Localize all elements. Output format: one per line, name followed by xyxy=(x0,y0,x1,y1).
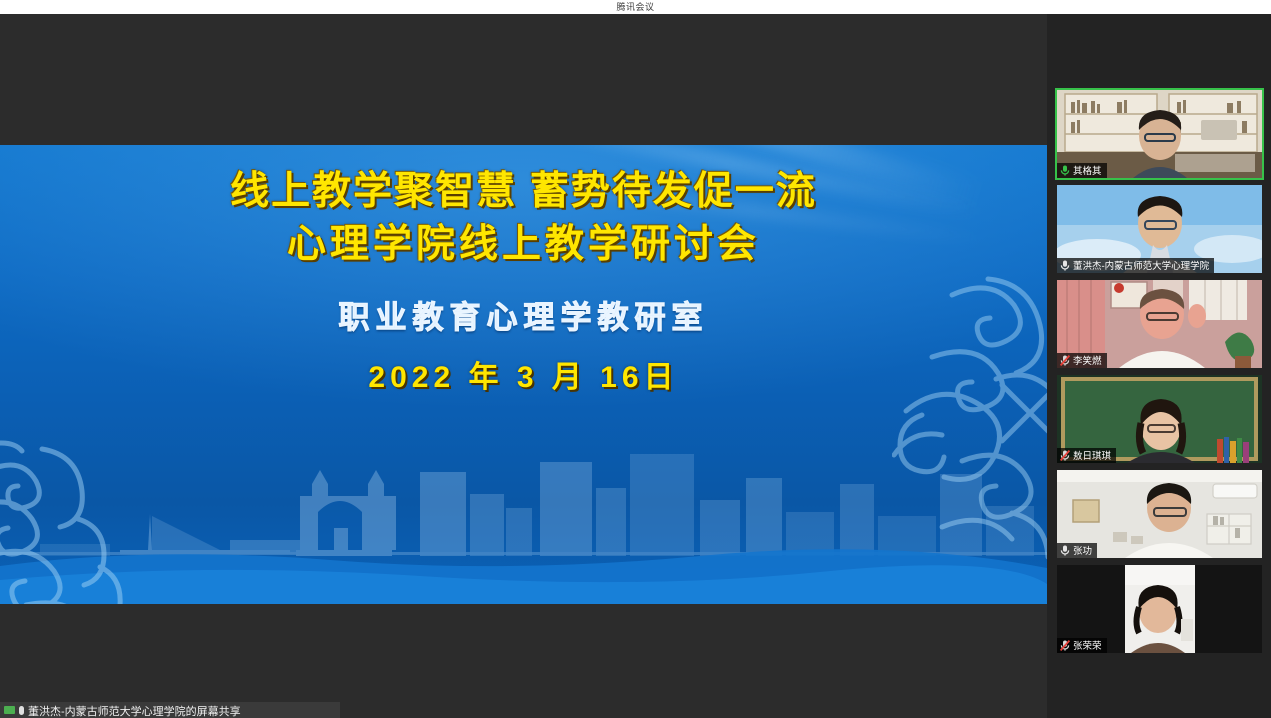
microphone-muted-icon xyxy=(1060,355,1070,366)
window-titlebar: 腾讯会议 xyxy=(0,0,1271,14)
microphone-muted-icon xyxy=(1060,640,1070,651)
participant-tile[interactable]: 李笑燃 xyxy=(1057,280,1262,368)
participant-name: 敖日琪琪 xyxy=(1073,452,1111,462)
participant-tile[interactable]: 张功 xyxy=(1057,470,1262,558)
slide-title: 线上教学聚智慧 蓄势待发促一流 心理学院线上教学研讨会 xyxy=(0,165,1047,271)
screen-share-status-bar: 董洪杰-内蒙古师范大学心理学院的屏幕共享 xyxy=(0,702,340,718)
slide-title-line-1: 线上教学聚智慧 蓄势待发促一流 xyxy=(0,165,1047,218)
microphone-icon-active xyxy=(1060,165,1070,176)
participant-name: 李笑燃 xyxy=(1073,357,1102,367)
participant-name-bar: 张功 xyxy=(1057,543,1097,558)
app-title: 腾讯会议 xyxy=(616,3,654,12)
screen-share-label: 董洪杰-内蒙古师范大学心理学院的屏幕共享 xyxy=(28,707,241,718)
participant-name: 董洪杰-内蒙古师范大学心理学院 xyxy=(1073,262,1209,272)
presentation-slide: 线上教学聚智慧 蓄势待发促一流 心理学院线上教学研讨会 职业教育心理学教研室 2… xyxy=(0,145,1047,604)
participant-tile[interactable]: 张荣荣 xyxy=(1057,565,1262,653)
shared-screen-stage[interactable]: 线上教学聚智慧 蓄势待发促一流 心理学院线上教学研讨会 职业教育心理学教研室 2… xyxy=(0,14,1047,718)
participant-name-bar: 张荣荣 xyxy=(1057,638,1107,653)
participant-name: 张功 xyxy=(1073,547,1092,557)
microphone-icon xyxy=(19,706,24,715)
participant-tile[interactable]: 其格其 xyxy=(1057,90,1262,178)
microphone-icon xyxy=(1060,545,1070,556)
participant-name: 其格其 xyxy=(1073,167,1102,177)
microphone-icon xyxy=(1060,260,1070,271)
microphone-muted-icon xyxy=(1060,450,1070,461)
camera-icon xyxy=(4,706,15,714)
participant-name-bar: 敖日琪琪 xyxy=(1057,448,1116,463)
slide-date: 2022 年 3 月 16日 xyxy=(0,352,1047,396)
participant-name-bar: 其格其 xyxy=(1057,163,1107,178)
participant-name: 张荣荣 xyxy=(1073,642,1102,652)
participant-name-bar: 李笑燃 xyxy=(1057,353,1107,368)
participant-tile[interactable]: 董洪杰-内蒙古师范大学心理学院 xyxy=(1057,185,1262,273)
slide-subtitle: 职业教育心理学教研室 xyxy=(0,292,1047,337)
slide-title-line-2: 心理学院线上教学研讨会 xyxy=(0,218,1047,271)
participant-tile[interactable]: 敖日琪琪 xyxy=(1057,375,1262,463)
participant-name-bar: 董洪杰-内蒙古师范大学心理学院 xyxy=(1057,258,1214,273)
participant-filmstrip[interactable]: 其格其 xyxy=(1047,14,1271,718)
meeting-window: 腾讯会议 xyxy=(0,0,1271,718)
